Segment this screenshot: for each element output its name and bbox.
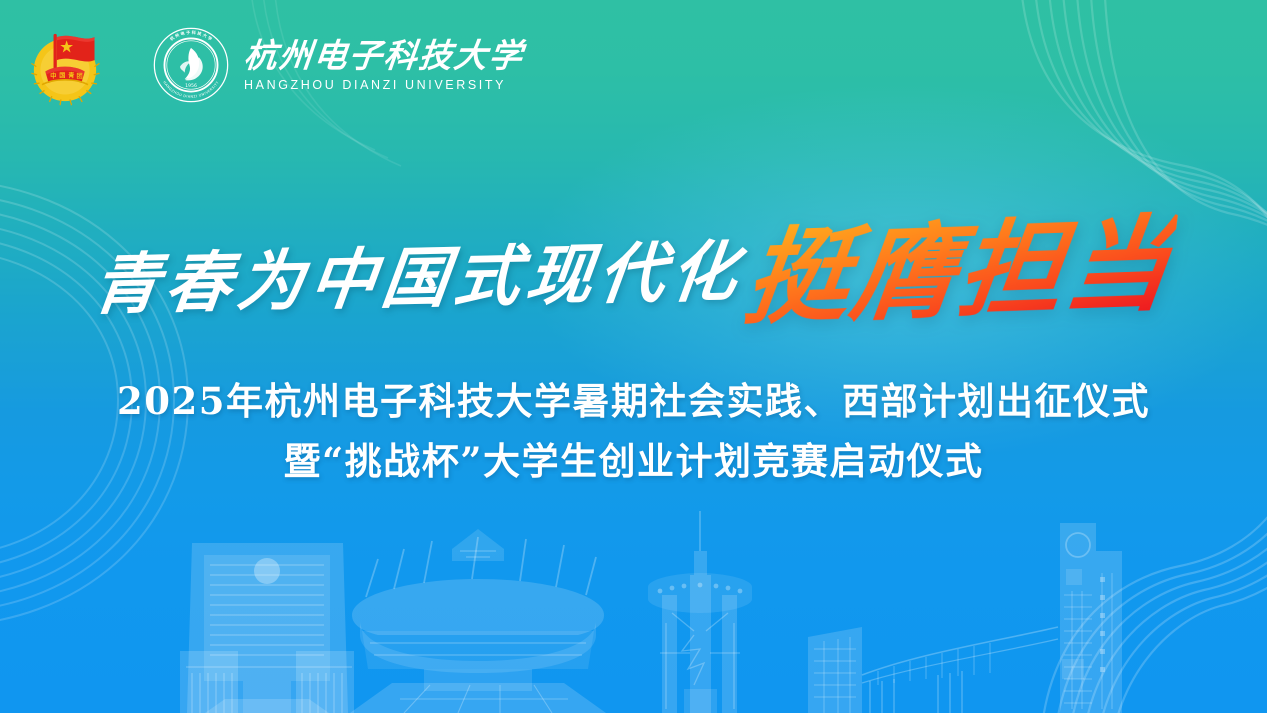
clock-highrise-icon [1060, 523, 1122, 713]
university-wordmark: 杭州电子科技大学 HANGZHOU DIANZI UNIVERSITY [244, 39, 524, 92]
event-banner: 中国 青团 1956 杭 州 电 子 科 技 大 学 [0, 0, 1267, 713]
office-tower-with-wings-icon [180, 543, 354, 713]
league-emblem: 中国 青团 [24, 24, 106, 106]
svg-text:青: 青 [68, 71, 74, 79]
svg-text:1956: 1956 [185, 83, 197, 89]
university-lockup: 1956 杭 州 电 子 科 技 大 学 HANGZHOU DIANZI UNI… [152, 26, 524, 104]
header-logos: 中国 青团 1956 杭 州 电 子 科 技 大 学 [24, 24, 524, 106]
suspension-bridge-icon [862, 627, 1058, 713]
subtitle-line-2: 暨“挑战杯”大学生创业计划竞赛启动仪式 [0, 432, 1267, 492]
city-skyline [0, 503, 1267, 713]
svg-text:中: 中 [50, 72, 56, 80]
hero-title-accent: 挺膺担当 [738, 179, 1183, 345]
event-subtitle: 2025年杭州电子科技大学暑期社会实践、西部计划出征仪式 暨“挑战杯”大学生创业… [0, 372, 1267, 492]
university-name-cn: 杭州电子科技大学 [242, 39, 525, 72]
university-name-en: HANGZHOU DIANZI UNIVERSITY [244, 79, 524, 92]
svg-text:杭 州 电 子 科 技 大 学: 杭 州 电 子 科 技 大 学 [168, 29, 213, 42]
hdu-seal-logo-icon: 1956 杭 州 电 子 科 技 大 学 HANGZHOU DIANZI UNI… [152, 26, 230, 104]
mid-rise-block-icon [808, 627, 862, 713]
tv-observation-tower-icon [648, 511, 752, 713]
subtitle-line-1: 2025年杭州电子科技大学暑期社会实践、西部计划出征仪式 [0, 372, 1267, 432]
svg-text:国: 国 [59, 71, 65, 79]
decorative-waves [0, 0, 1267, 713]
hero-title: 青春为中国式现代化 挺膺担当 [0, 186, 1267, 337]
svg-text:团: 团 [76, 72, 82, 80]
hero-title-white: 青春为中国式现代化 [87, 218, 750, 344]
domed-stadium-icon [350, 529, 606, 713]
